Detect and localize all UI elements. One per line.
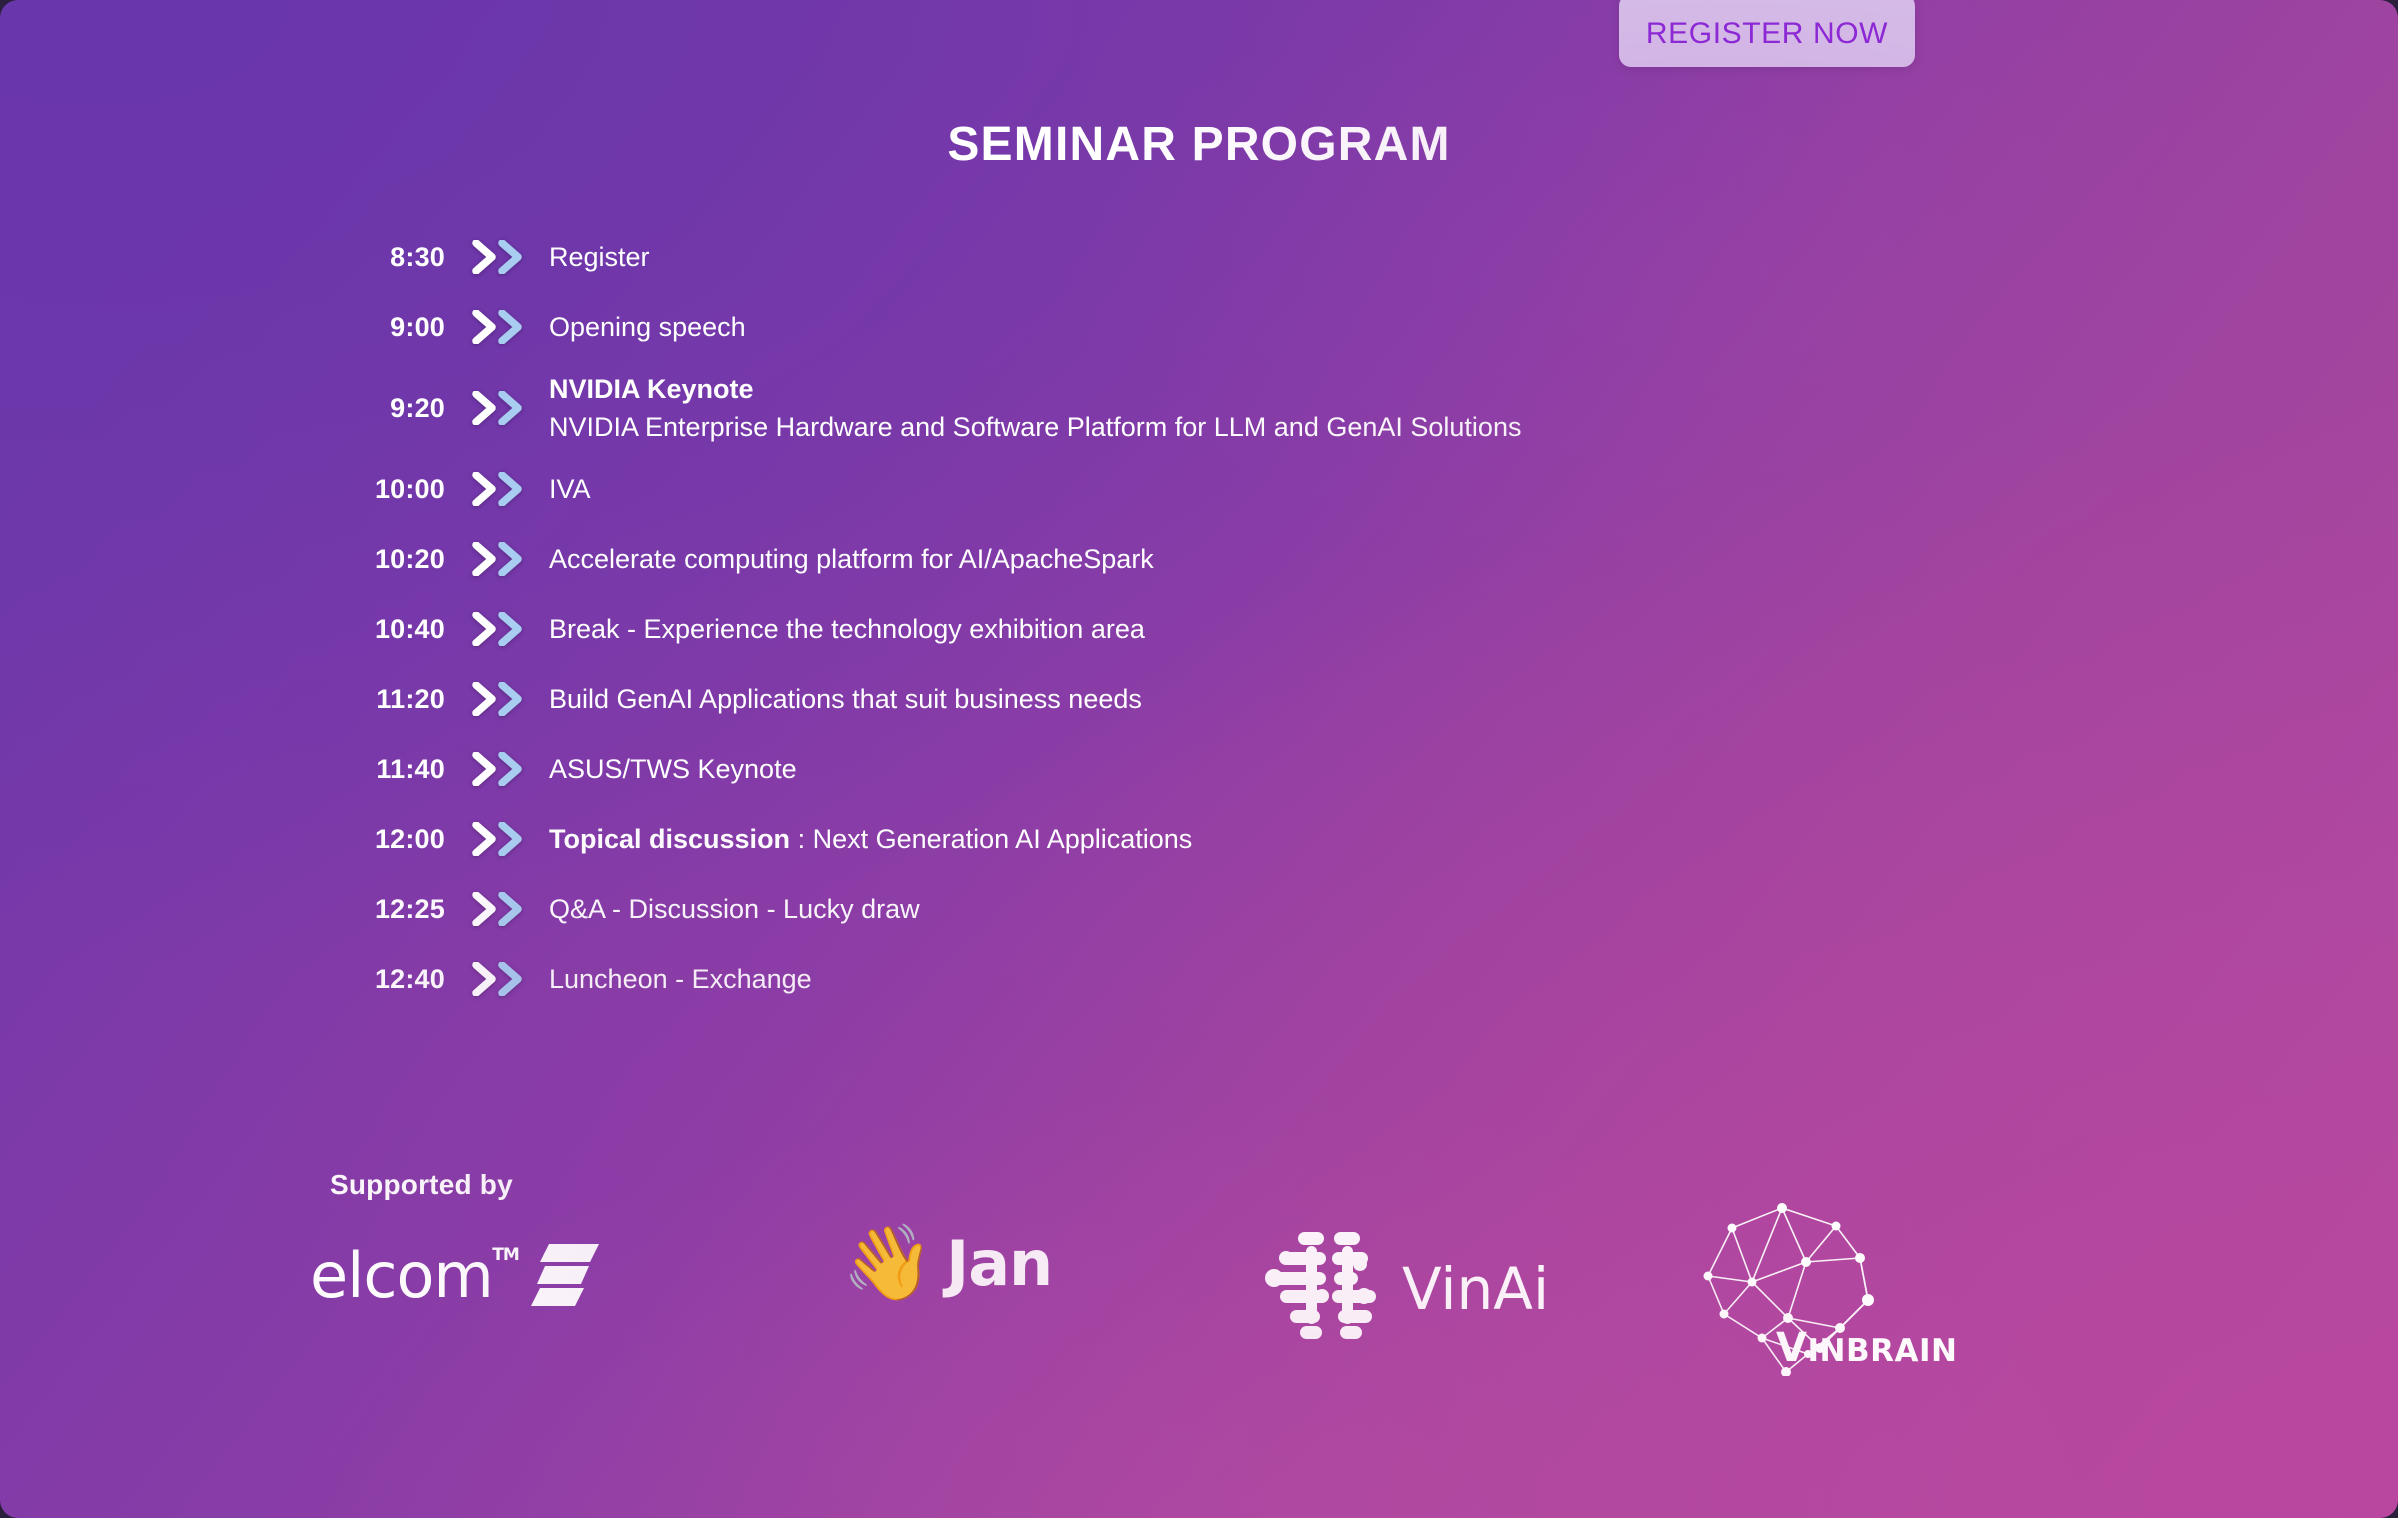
double-chevron-right-icon [469,891,533,927]
elcom-e-mark-icon [527,1236,601,1315]
schedule-row-time: 12:40 [330,964,445,995]
schedule-row-time: 10:20 [330,544,445,575]
supported-by-label: Supported by [330,1169,513,1201]
schedule-row-title: Q&A - Discussion - Lucky draw [549,894,920,924]
schedule-list: 8:30 Register9:00 Opening speech9:20 NVI… [330,222,2030,1014]
schedule-row-time: 9:00 [330,312,445,343]
schedule-row: 11:20 Build GenAI Applications that suit… [330,664,2030,734]
vinbrain-wordmark-rest: INBRAIN [1807,1333,1957,1369]
schedule-row-title: Accelerate computing platform for AI/Apa… [549,544,1154,574]
schedule-row-description: ASUS/TWS Keynote [545,750,797,788]
schedule-row-description: Topical discussion : Next Generation AI … [545,820,1192,858]
seminar-program-slide: REGISTER NOW SEMINAR PROGRAM 8:30 Regist… [0,0,2398,1518]
schedule-row-title: Break - Experience the technology exhibi… [549,614,1145,644]
schedule-row-time: 10:00 [330,474,445,505]
sponsor-logo-jan: 👋 Jan [842,1226,1052,1300]
schedule-row-title: Luncheon - Exchange [549,964,812,994]
schedule-row-title: Register [549,242,650,272]
schedule-row-subtitle: NVIDIA Enterprise Hardware and Software … [549,408,1521,446]
schedule-row-time: 11:20 [330,684,445,715]
schedule-row-time: 12:00 [330,824,445,855]
vinbrain-wordmark: VINBRAIN [1776,1328,1957,1368]
schedule-row: 10:20 Accelerate computing platform for … [330,524,2030,594]
double-chevron-right-icon [469,611,533,647]
schedule-row-time: 12:25 [330,894,445,925]
waving-hand-icon: 👋 [842,1226,934,1300]
schedule-row-title: Build GenAI Applications that suit busin… [549,684,1142,714]
schedule-row: 10:40 Break - Experience the technology … [330,594,2030,664]
schedule-row-description: IVA [545,470,591,508]
double-chevron-right-icon [469,821,533,857]
sponsor-logos: elcom TM 👋 Jan [300,1218,2100,1378]
schedule-row: 9:20 NVIDIA KeynoteNVIDIA Enterprise Har… [330,362,2030,454]
schedule-row: 9:00 Opening speech [330,292,2030,362]
schedule-row-title-suffix: : Next Generation AI Applications [790,824,1192,854]
schedule-row: 12:25 Q&A - Discussion - Lucky draw [330,874,2030,944]
schedule-row-time: 10:40 [330,614,445,645]
vinai-circuit-icon [1260,1226,1388,1351]
schedule-row: 12:40 Luncheon - Exchange [330,944,2030,1014]
schedule-row-description: Q&A - Discussion - Lucky draw [545,890,920,928]
page-title: SEMINAR PROGRAM [0,117,2398,172]
schedule-row: 11:40 ASUS/TWS Keynote [330,734,2030,804]
schedule-row: 8:30 Register [330,222,2030,292]
double-chevron-right-icon [469,239,533,275]
double-chevron-right-icon [469,681,533,717]
schedule-row-title: NVIDIA Keynote [549,374,754,404]
schedule-row-description: Opening speech [545,308,746,346]
vinai-wordmark: VinAi [1402,1255,1549,1323]
register-now-button[interactable]: REGISTER NOW [1619,0,1915,67]
schedule-row-time: 9:20 [330,393,445,424]
schedule-row-description: Build GenAI Applications that suit busin… [545,680,1142,718]
elcom-trademark-symbol: TM [492,1247,519,1264]
schedule-row-title: Topical discussion [549,824,790,854]
elcom-wordmark: elcom TM [310,1245,493,1307]
double-chevron-right-icon [469,961,533,997]
double-chevron-right-icon [469,541,533,577]
schedule-row-description: Break - Experience the technology exhibi… [545,610,1145,648]
double-chevron-right-icon [469,471,533,507]
schedule-row-description: Accelerate computing platform for AI/Apa… [545,540,1154,578]
double-chevron-right-icon [469,309,533,345]
vinbrain-wordmark-initial: V [1776,1325,1807,1371]
elcom-wordmark-text: elcom [310,1239,493,1312]
schedule-row-description: Register [545,238,650,276]
sponsor-logo-vinbrain: VINBRAIN [1690,1196,2020,1376]
schedule-row-description: NVIDIA KeynoteNVIDIA Enterprise Hardware… [545,370,1521,447]
jan-wordmark: Jan [946,1227,1052,1300]
schedule-row-time: 11:40 [330,754,445,785]
schedule-row: 10:00 IVA [330,454,2030,524]
sponsor-logo-vinai: VinAi [1260,1226,1549,1351]
schedule-row-description: Luncheon - Exchange [545,960,812,998]
schedule-row-title: Opening speech [549,312,746,342]
schedule-row-time: 8:30 [330,242,445,273]
schedule-row-title: ASUS/TWS Keynote [549,754,797,784]
schedule-row: 12:00 Topical discussion : Next Generati… [330,804,2030,874]
double-chevron-right-icon [469,751,533,787]
schedule-row-title: IVA [549,474,591,504]
double-chevron-right-icon [469,390,533,426]
sponsor-logo-elcom: elcom TM [310,1236,601,1315]
